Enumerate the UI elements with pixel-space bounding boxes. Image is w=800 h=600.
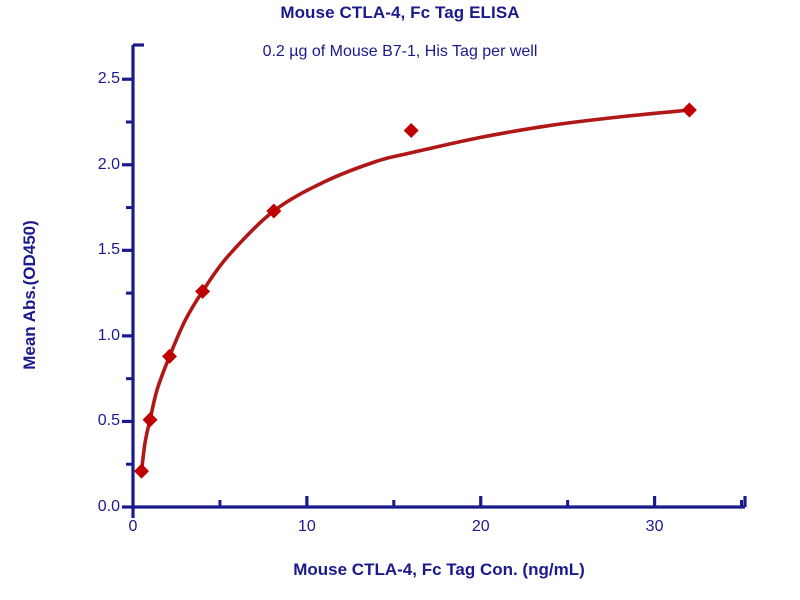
data-point-marker (162, 349, 177, 364)
y-tick-label: 0.0 (70, 498, 120, 516)
x-tick-label: 10 (298, 518, 316, 536)
axis-ticks (122, 79, 742, 518)
x-tick-label: 20 (472, 518, 490, 536)
x-tick-label: 0 (129, 518, 138, 536)
chart-figure: Mouse CTLA-4, Fc Tag ELISA 0.2 µg of Mou… (0, 0, 800, 600)
y-tick-label: 0.5 (70, 412, 120, 430)
y-tick-label: 1.0 (70, 327, 120, 345)
fit-curve (142, 110, 690, 471)
y-tick-label: 1.5 (70, 241, 120, 259)
data-markers (134, 103, 697, 479)
data-point-marker (143, 412, 158, 427)
data-point-marker (134, 464, 149, 479)
plot-area (0, 0, 800, 600)
x-tick-label: 30 (646, 518, 664, 536)
data-point-marker (682, 103, 697, 118)
data-point-marker (404, 123, 419, 138)
y-tick-label: 2.5 (70, 70, 120, 88)
y-tick-label: 2.0 (70, 156, 120, 174)
